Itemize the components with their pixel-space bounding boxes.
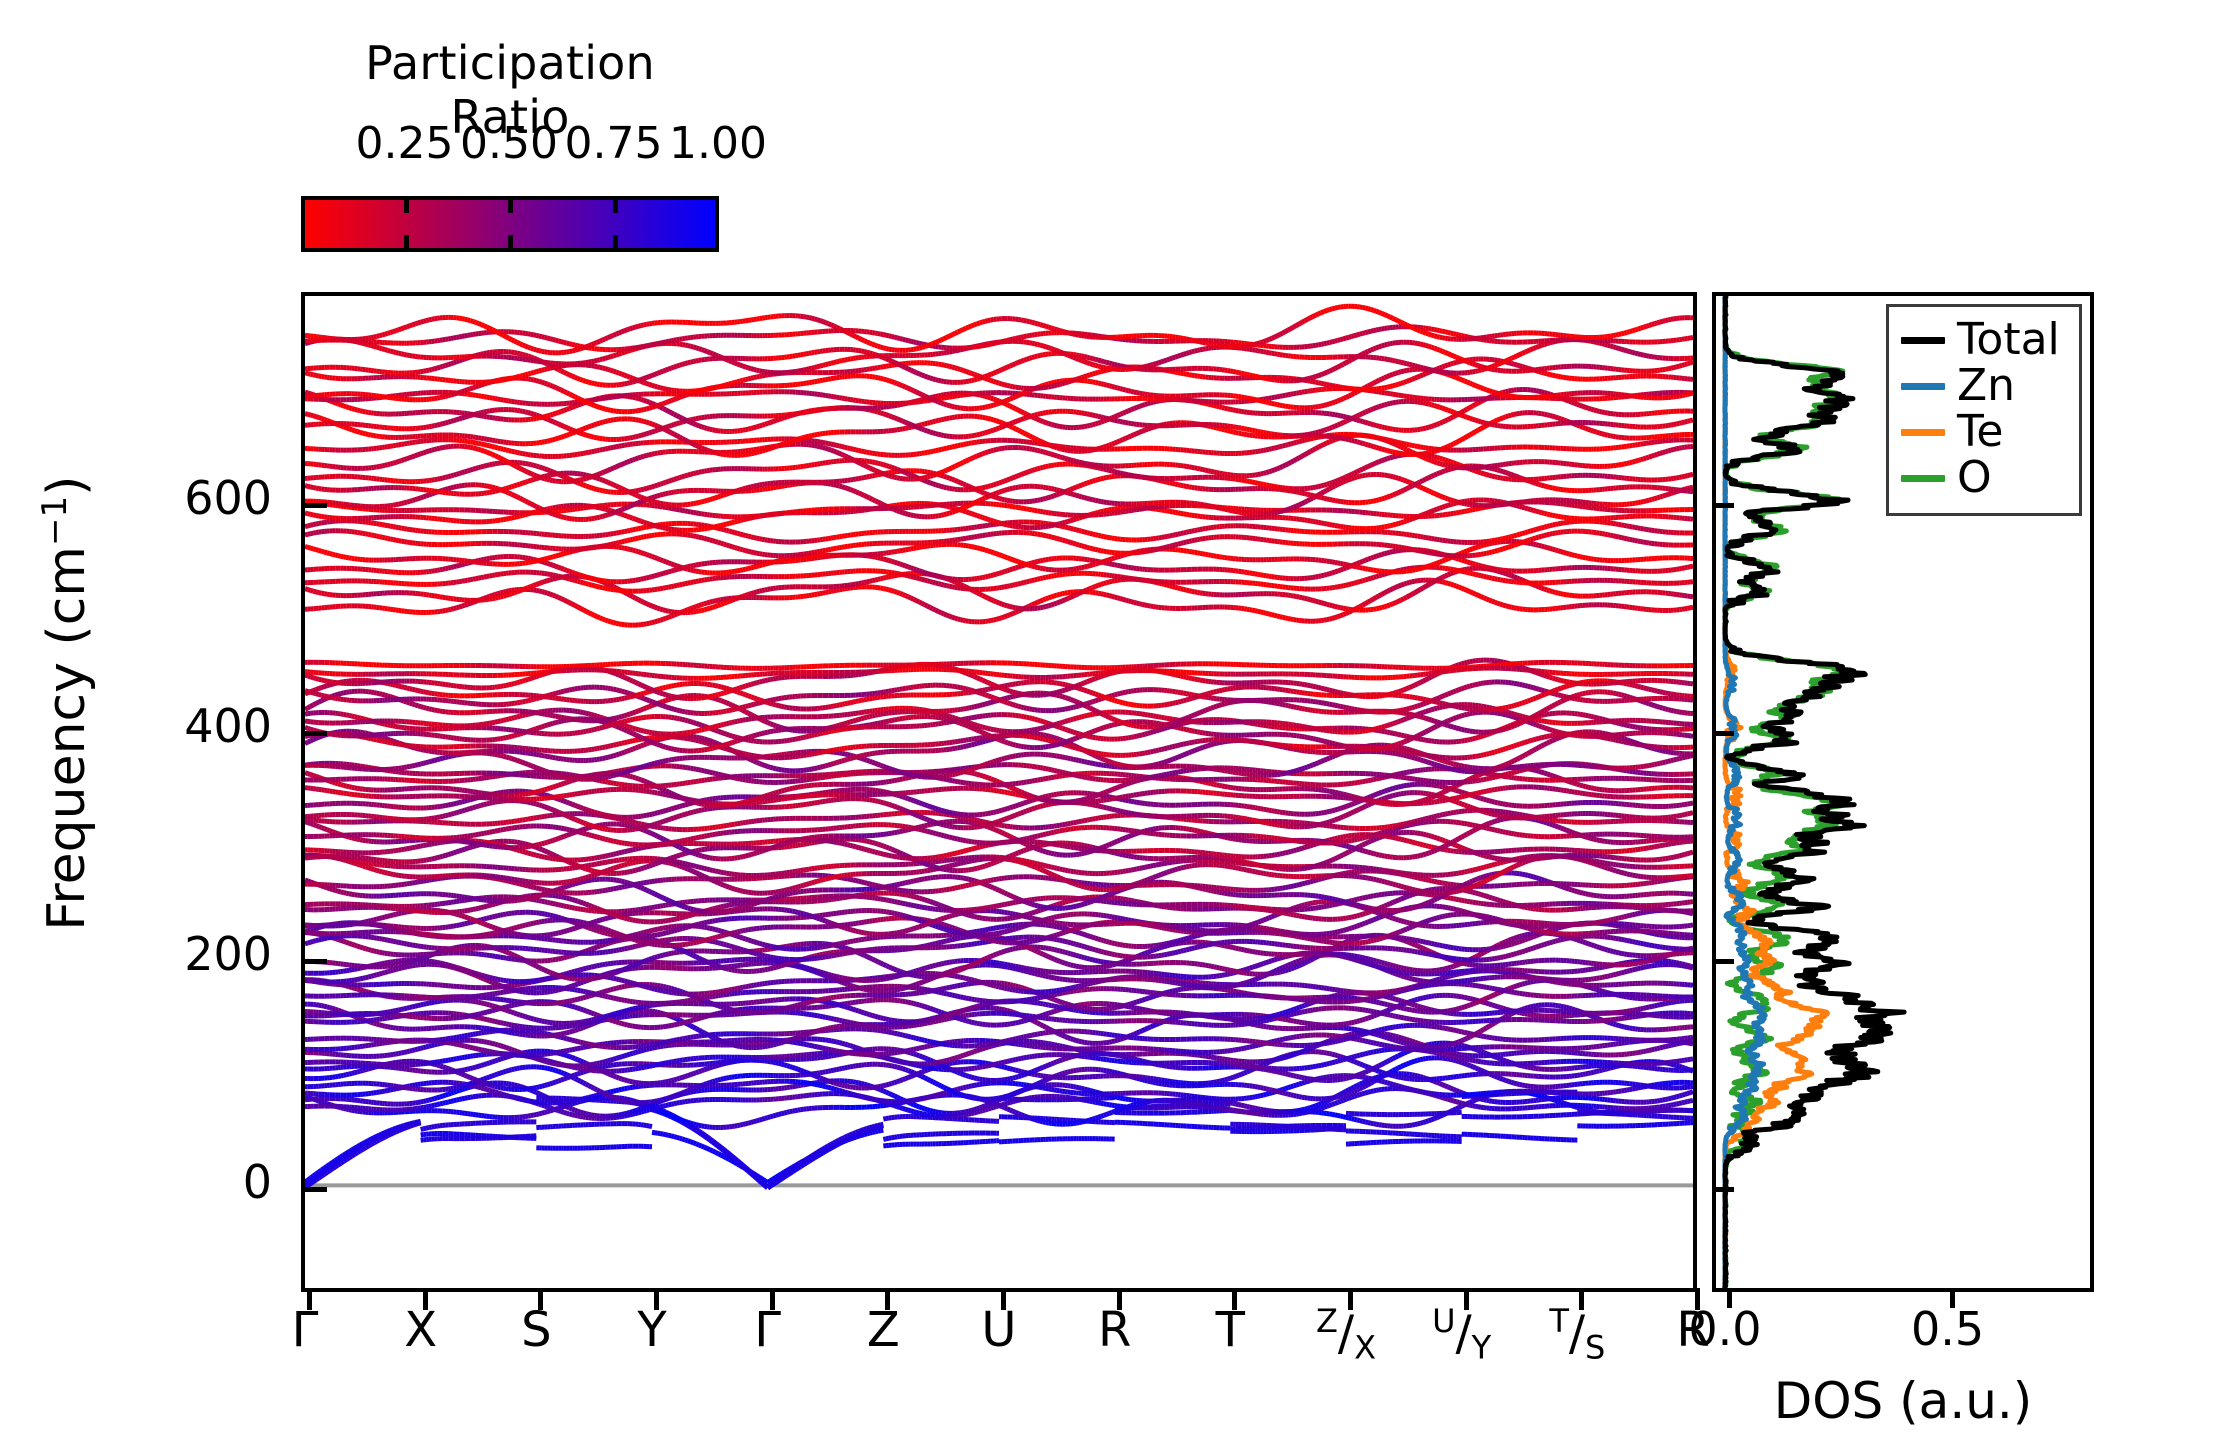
- legend-color-swatch: [1901, 383, 1945, 390]
- participation-ratio-colorbar: [301, 196, 719, 252]
- x-tick-label: Γ: [292, 1302, 319, 1358]
- x-tick-denominator: S: [1585, 1329, 1605, 1367]
- y-axis-label-tail: ): [37, 476, 97, 496]
- colorbar-tick-label: 1.00: [669, 118, 767, 169]
- legend-item: Total: [1901, 317, 2067, 363]
- x-tick-slash: /: [1338, 1306, 1354, 1362]
- band-curves: [305, 306, 1693, 1188]
- colorbar-tickmark: [508, 235, 513, 248]
- colorbar-tick-label: 0.50: [460, 118, 558, 169]
- colorbar-tick-label: 0.75: [565, 118, 663, 169]
- colorbar-tickmark: [613, 200, 618, 213]
- x-tick-numerator: T: [1549, 1302, 1569, 1340]
- band-structure-axes: [301, 292, 1697, 1292]
- legend-label: O: [1957, 456, 1992, 500]
- x-tick-slash: /: [1456, 1306, 1472, 1362]
- y-tick: [305, 1187, 327, 1192]
- y-tick: [305, 731, 327, 736]
- x-tick-denominator: X: [1354, 1329, 1376, 1367]
- x-tick-numerator: Z: [1316, 1302, 1338, 1340]
- legend-color-swatch: [1901, 475, 1945, 482]
- dos-legend: TotalZnTeO: [1886, 304, 2082, 516]
- dos-y-tick: [1716, 959, 1734, 964]
- dos-curve-total: [1725, 296, 1904, 1288]
- x-tick-label: Γ: [754, 1302, 781, 1358]
- x-tick-label: Z/X: [1316, 1302, 1376, 1367]
- y-tick: [305, 959, 327, 964]
- x-tick-slash: /: [1569, 1306, 1585, 1362]
- colorbar-tickmark: [613, 235, 618, 248]
- legend-item: Zn: [1901, 363, 2067, 409]
- dos-x-tick-label: 0.0: [1688, 1302, 1761, 1356]
- y-axis-label: Frequency (cm−1): [35, 423, 97, 983]
- dos-x-tick-label: 0.5: [1911, 1302, 1984, 1356]
- legend-label: Zn: [1957, 364, 2015, 408]
- band-structure-plot: [305, 296, 1693, 1288]
- x-tick-label: Y: [637, 1302, 666, 1358]
- colorbar-tickmark: [404, 235, 409, 248]
- x-tick-label: S: [521, 1302, 551, 1358]
- x-tick-denominator: Y: [1472, 1329, 1492, 1367]
- colorbar-tick-label: 0.25: [356, 118, 454, 169]
- legend-label: Total: [1957, 318, 2060, 362]
- colorbar-tick-labels: 0.250.500.751.00: [300, 118, 720, 168]
- legend-item: Te: [1901, 409, 2067, 455]
- dos-y-tick: [1716, 503, 1734, 508]
- y-tick-label: 0: [0, 1155, 272, 1209]
- legend-color-swatch: [1901, 429, 1945, 436]
- y-axis-label-text: Frequency (cm: [37, 546, 97, 931]
- legend-color-swatch: [1901, 337, 1945, 344]
- x-tick-numerator: U: [1432, 1302, 1455, 1340]
- x-tick-label: T/S: [1549, 1302, 1605, 1367]
- y-tick: [305, 503, 327, 508]
- y-axis-label-exponent: −1: [35, 496, 75, 546]
- x-tick-label: U: [981, 1302, 1016, 1358]
- colorbar-tickmark: [404, 200, 409, 213]
- figure-root: Participation Ratio 0.250.500.751.00 020…: [0, 0, 2222, 1455]
- dos-y-tick: [1716, 731, 1734, 736]
- x-tick-label: Z: [867, 1302, 900, 1358]
- x-tick-label: X: [404, 1302, 437, 1358]
- dos-y-tick: [1716, 1187, 1734, 1192]
- legend-item: O: [1901, 455, 2067, 501]
- x-tick-label: T: [1216, 1302, 1245, 1358]
- colorbar-tickmark: [508, 200, 513, 213]
- dos-x-axis-label: DOS (a.u.): [1712, 1372, 2094, 1430]
- x-tick-label: U/Y: [1432, 1302, 1491, 1367]
- legend-label: Te: [1957, 410, 2003, 454]
- x-tick-label: R: [1098, 1302, 1131, 1358]
- dos-curves: [1725, 296, 1904, 1288]
